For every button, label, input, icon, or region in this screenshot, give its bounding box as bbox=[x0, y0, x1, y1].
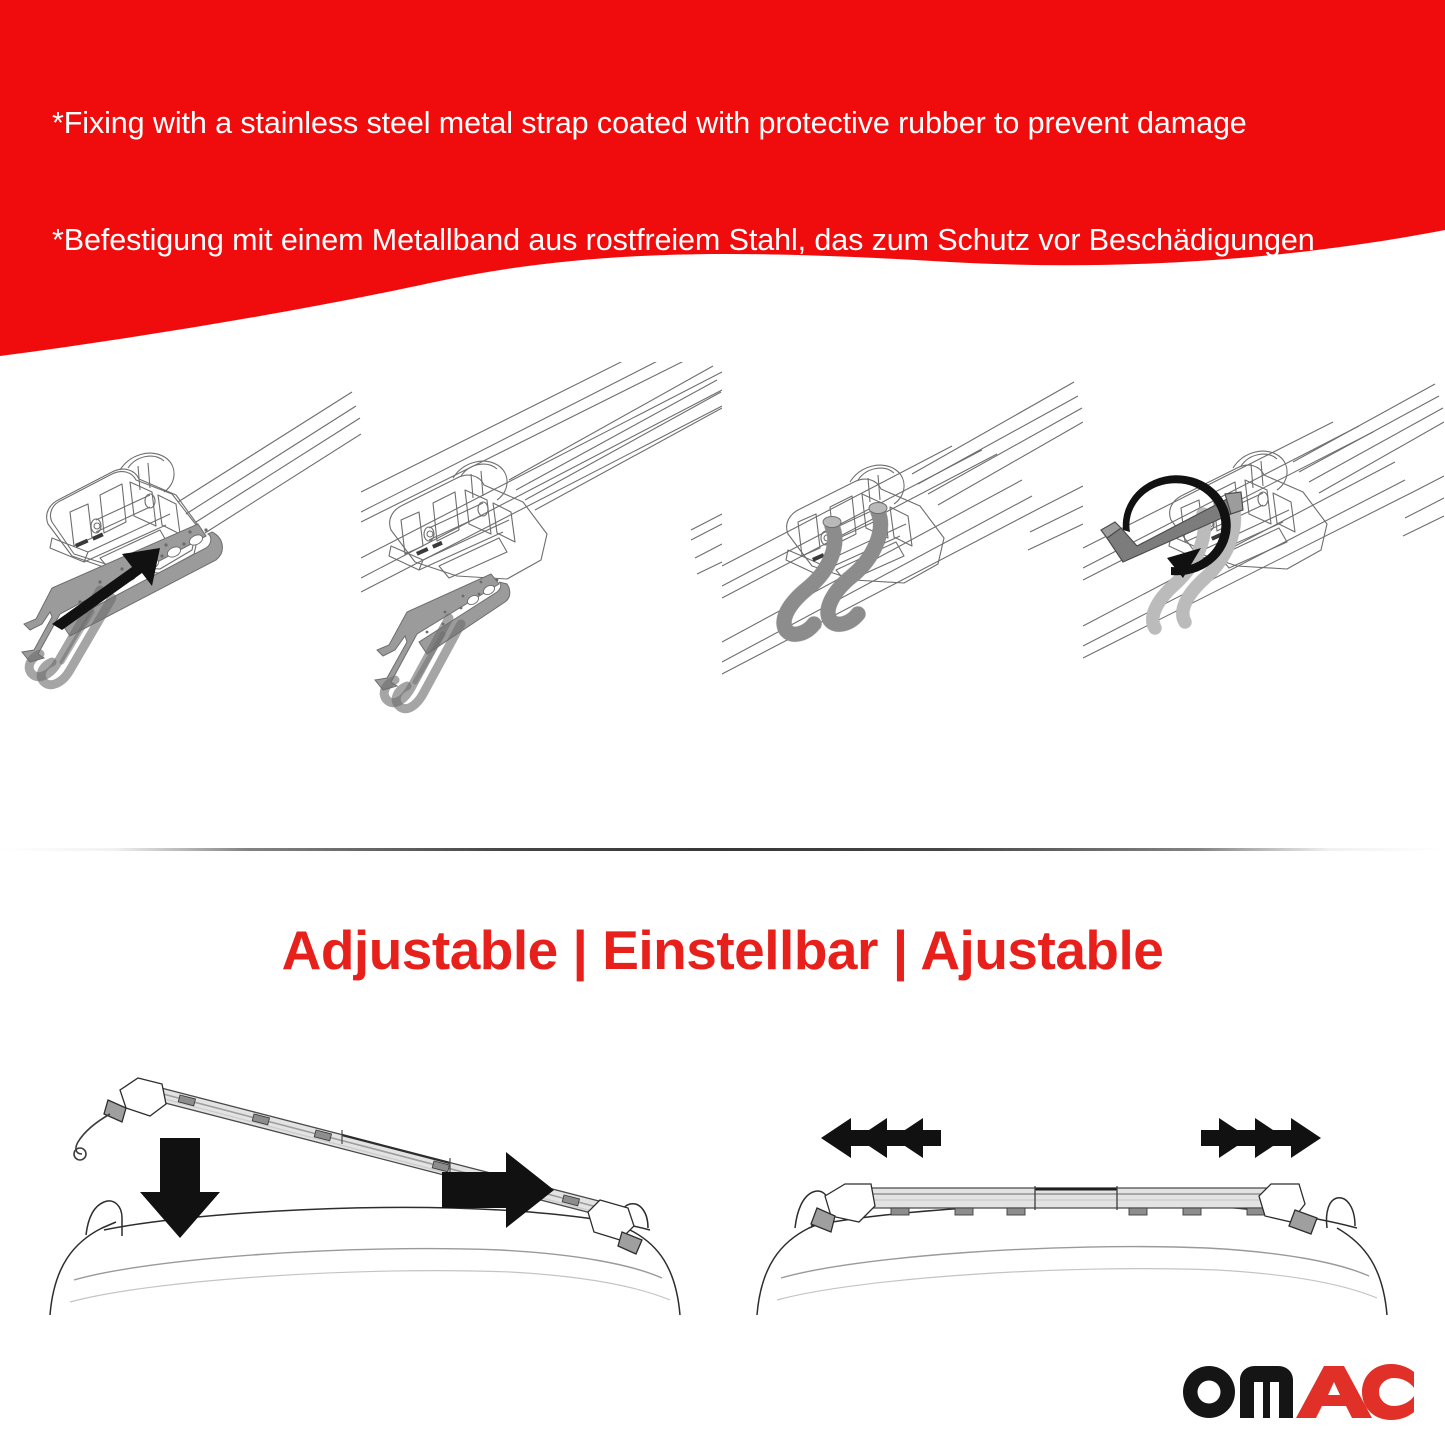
installation-steps bbox=[0, 362, 1445, 812]
step-4-illustration bbox=[1083, 362, 1444, 812]
header-line-2: *Befestigung mit einem Metallband aus ro… bbox=[52, 221, 1422, 260]
step-3-strap-wrapped bbox=[722, 362, 1083, 812]
logo-letter-a bbox=[1296, 1366, 1372, 1418]
right-arrow-icon bbox=[442, 1152, 554, 1228]
crossbar-mounting-illustration bbox=[30, 1030, 720, 1320]
omac-logo bbox=[1178, 1360, 1416, 1422]
step-1-illustration bbox=[0, 362, 361, 812]
crossbar-width-illustration bbox=[725, 1030, 1415, 1320]
step-3-illustration bbox=[722, 362, 1083, 812]
step-2-illustration bbox=[361, 362, 722, 812]
infographic-page: *Fixing with a stainless steel metal str… bbox=[0, 0, 1445, 1445]
header-banner: *Fixing with a stainless steel metal str… bbox=[0, 0, 1445, 360]
panel-crossbar-width bbox=[725, 1030, 1415, 1320]
omac-logo-mark bbox=[1178, 1360, 1416, 1422]
metal-strap-wrapped bbox=[784, 503, 887, 635]
step-4-tighten-hex-key bbox=[1083, 362, 1444, 812]
panel-crossbar-mounting bbox=[30, 1030, 720, 1320]
foot-brand-tag bbox=[75, 533, 104, 548]
logo-letter-m bbox=[1240, 1366, 1293, 1418]
down-arrow-icon bbox=[140, 1138, 220, 1238]
crossbar bbox=[74, 1078, 642, 1254]
triple-left-arrow-icon bbox=[821, 1118, 941, 1158]
step-2-foot-on-rail bbox=[361, 362, 722, 812]
header-line-1: *Fixing with a stainless steel metal str… bbox=[52, 104, 1422, 143]
section-divider bbox=[0, 848, 1445, 851]
logo-letter-o bbox=[1183, 1366, 1235, 1418]
adjustable-illustrations bbox=[0, 1030, 1445, 1320]
foot-brand-tag bbox=[416, 541, 443, 556]
step-1-insert-strap bbox=[0, 362, 361, 812]
adjustable-title: Adjustable | Einstellbar | Ajustable bbox=[0, 918, 1445, 982]
metal-strap bbox=[375, 574, 510, 709]
triple-right-arrow-icon bbox=[1201, 1118, 1321, 1158]
logo-letter-c bbox=[1362, 1364, 1414, 1420]
